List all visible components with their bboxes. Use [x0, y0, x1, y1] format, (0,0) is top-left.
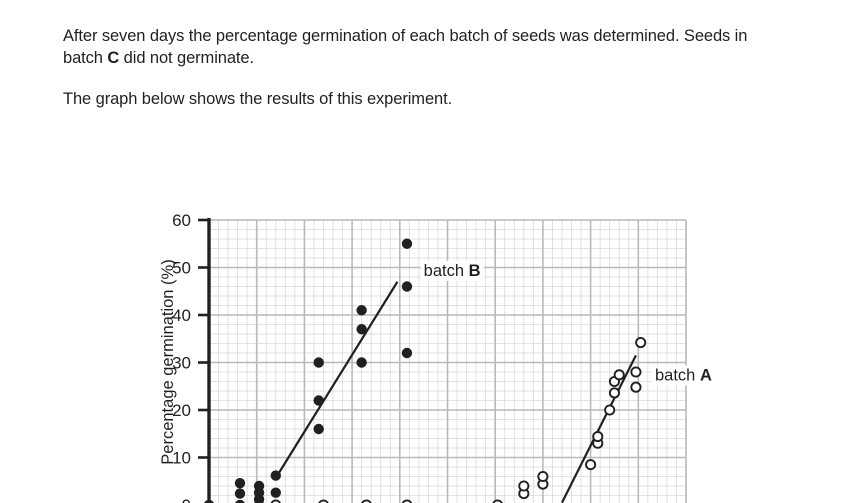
data-point	[254, 481, 264, 491]
y-tick-label: 0	[182, 496, 191, 503]
data-point	[314, 424, 324, 434]
series-label-batch-b: batch B	[424, 262, 481, 280]
data-point	[631, 383, 640, 392]
paragraph-1-text-after: did not germinate.	[119, 49, 254, 67]
data-point	[402, 348, 412, 358]
data-point	[235, 488, 245, 498]
data-point	[538, 472, 547, 481]
data-point	[314, 395, 324, 405]
y-tick-label: 60	[172, 211, 191, 230]
data-point	[636, 338, 645, 347]
y-axis-title: Percentage germination (%)	[159, 259, 177, 464]
data-point	[402, 239, 412, 249]
paragraph-1-batch-letter: C	[107, 49, 119, 67]
data-point	[605, 405, 614, 414]
data-point	[402, 281, 412, 291]
data-point	[615, 370, 624, 379]
data-point	[271, 470, 281, 480]
data-point	[356, 357, 366, 367]
data-point	[271, 487, 281, 497]
data-point	[356, 305, 366, 315]
data-point	[235, 478, 245, 488]
paragraph-1: After seven days the percentage germinat…	[63, 25, 753, 69]
data-point	[586, 460, 595, 469]
data-point	[519, 481, 528, 490]
data-point	[356, 324, 366, 334]
series-label-batch-a: batch A	[655, 366, 712, 384]
data-point	[631, 367, 640, 376]
chart-svg: 01020304050600246810 batch Bbatch A Red …	[0, 100, 861, 503]
data-point	[314, 357, 324, 367]
data-point	[593, 432, 602, 441]
data-point	[610, 388, 619, 397]
germination-scatter-chart: 01020304050600246810 batch Bbatch A Red …	[0, 100, 861, 503]
